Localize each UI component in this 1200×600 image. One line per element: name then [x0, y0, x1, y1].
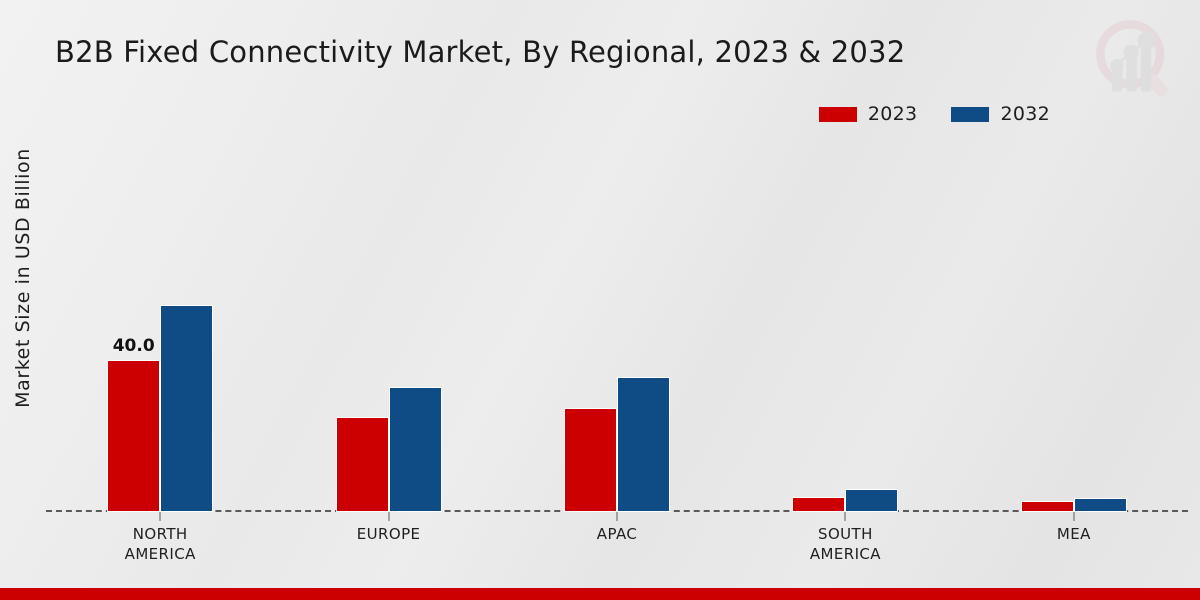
- x-axis-tick: [160, 512, 161, 521]
- bar-2023[interactable]: [1021, 501, 1074, 512]
- bar-2032[interactable]: [617, 377, 670, 512]
- bar-2023[interactable]: [336, 417, 389, 512]
- x-axis-category-label: NORTHAMERICA: [46, 524, 274, 565]
- bar-2023[interactable]: 40.0: [107, 360, 160, 512]
- bar-groups: 40.0NORTHAMERICAEUROPEAPACSOUTHAMERICAME…: [46, 140, 1188, 512]
- category-label-line: SOUTH: [731, 524, 959, 544]
- bar-2032[interactable]: [160, 305, 213, 512]
- x-axis-category-label: MEA: [960, 524, 1188, 544]
- footer-band: [0, 588, 1200, 600]
- x-axis-category-label: APAC: [503, 524, 731, 544]
- category-label-line: NORTH: [46, 524, 274, 544]
- x-axis-tick: [617, 512, 618, 521]
- legend-swatch-2023: [819, 107, 857, 122]
- watermark-logo: [1086, 12, 1182, 108]
- x-axis-tick: [1073, 512, 1074, 521]
- chart-container: B2B Fixed Connectivity Market, By Region…: [0, 0, 1200, 600]
- chart-title: B2B Fixed Connectivity Market, By Region…: [55, 36, 905, 69]
- bar-2032[interactable]: [1074, 498, 1127, 512]
- bar-2023[interactable]: [792, 497, 845, 512]
- bar-2032[interactable]: [845, 489, 898, 512]
- legend-swatch-2032: [951, 107, 989, 122]
- bar-2023[interactable]: [564, 408, 617, 512]
- plot-area: 40.0NORTHAMERICAEUROPEAPACSOUTHAMERICAME…: [46, 140, 1188, 512]
- legend-item-2023[interactable]: 2023: [819, 103, 918, 125]
- category-label-line: AMERICA: [46, 544, 274, 564]
- legend-label-2032: 2032: [1000, 103, 1050, 125]
- bar-pair: [503, 140, 731, 512]
- legend-label-2023: 2023: [868, 103, 918, 125]
- bar-group: 40.0NORTHAMERICA: [46, 140, 274, 512]
- bar-pair: 40.0: [46, 140, 274, 512]
- x-axis-tick: [845, 512, 846, 521]
- bar-group: APAC: [503, 140, 731, 512]
- bar-group: EUROPE: [274, 140, 502, 512]
- bar-2032[interactable]: [389, 387, 442, 512]
- category-label-line: EUROPE: [274, 524, 502, 544]
- bar-group: MEA: [960, 140, 1188, 512]
- y-axis-title: Market Size in USD Billion: [6, 0, 40, 600]
- bar-value-label: 40.0: [113, 336, 155, 356]
- x-axis-category-label: EUROPE: [274, 524, 502, 544]
- legend-item-2032[interactable]: 2032: [951, 103, 1050, 125]
- chart-legend: 2023 2032: [819, 103, 1050, 125]
- x-axis-category-label: SOUTHAMERICA: [731, 524, 959, 565]
- bar-pair: [731, 140, 959, 512]
- bar-group: SOUTHAMERICA: [731, 140, 959, 512]
- category-label-line: MEA: [960, 524, 1188, 544]
- y-axis-title-text: Market Size in USD Billion: [12, 148, 34, 408]
- bar-pair: [960, 140, 1188, 512]
- bar-pair: [274, 140, 502, 512]
- category-label-line: AMERICA: [731, 544, 959, 564]
- x-axis-tick: [388, 512, 389, 521]
- category-label-line: APAC: [503, 524, 731, 544]
